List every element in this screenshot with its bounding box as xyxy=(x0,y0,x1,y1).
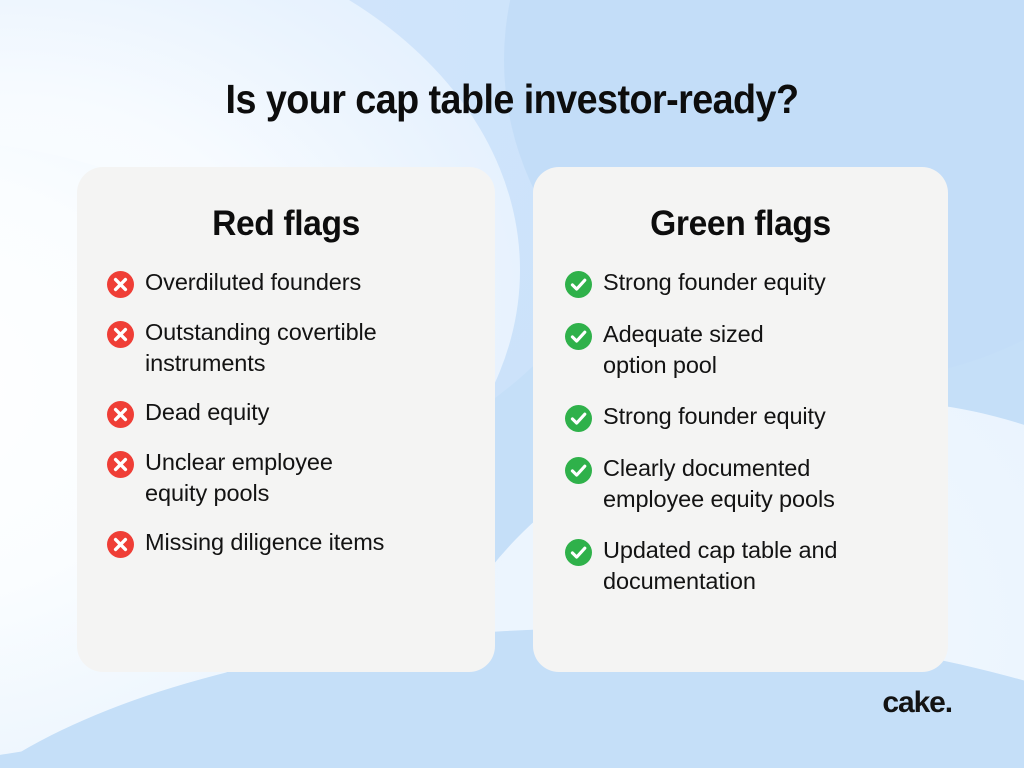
x-circle-icon xyxy=(107,451,134,478)
list-item-label: Dead equity xyxy=(145,397,269,428)
check-circle-icon xyxy=(565,323,592,350)
check-circle-icon xyxy=(565,539,592,566)
x-circle-icon xyxy=(107,271,134,298)
list-item: Clearly documented employee equity pools xyxy=(565,453,937,514)
infographic-canvas: Is your cap table investor-ready? Red fl… xyxy=(0,0,1024,768)
list-item-label: Strong founder equity xyxy=(603,401,826,432)
list-item-label: Adequate sized option pool xyxy=(603,319,764,380)
check-circle-icon xyxy=(565,271,592,298)
x-circle-icon xyxy=(107,401,134,428)
list-item: Strong founder equity xyxy=(565,401,937,432)
list-item: Outstanding covertible instruments xyxy=(107,317,477,378)
list-item-label: Clearly documented employee equity pools xyxy=(603,453,835,514)
check-circle-icon xyxy=(565,457,592,484)
green-flags-heading: Green flags xyxy=(541,204,939,244)
list-item: Dead equity xyxy=(107,397,477,428)
list-item-label: Missing diligence items xyxy=(145,527,384,558)
check-circle-icon xyxy=(565,405,592,432)
list-item-label: Strong founder equity xyxy=(603,267,826,298)
x-circle-icon xyxy=(107,321,134,348)
list-item-label: Outstanding covertible instruments xyxy=(145,317,377,378)
list-item-label: Updated cap table and documentation xyxy=(603,535,837,596)
red-flags-list: Overdiluted foundersOutstanding covertib… xyxy=(107,267,477,558)
list-item: Adequate sized option pool xyxy=(565,319,937,380)
red-flags-card: Red flags Overdiluted foundersOutstandin… xyxy=(77,167,495,672)
list-item: Overdiluted founders xyxy=(107,267,477,298)
green-flags-list: Strong founder equityAdequate sized opti… xyxy=(565,267,937,596)
list-item: Missing diligence items xyxy=(107,527,477,558)
x-circle-icon xyxy=(107,531,134,558)
list-item-label: Unclear employee equity pools xyxy=(145,447,333,508)
list-item: Updated cap table and documentation xyxy=(565,535,937,596)
list-item: Strong founder equity xyxy=(565,267,937,298)
list-item-label: Overdiluted founders xyxy=(145,267,361,298)
red-flags-heading: Red flags xyxy=(85,204,486,244)
list-item: Unclear employee equity pools xyxy=(107,447,477,508)
flag-columns: Red flags Overdiluted foundersOutstandin… xyxy=(0,0,1024,768)
cake-logo: cake. xyxy=(882,686,952,720)
green-flags-card: Green flags Strong founder equityAdequat… xyxy=(533,167,948,672)
